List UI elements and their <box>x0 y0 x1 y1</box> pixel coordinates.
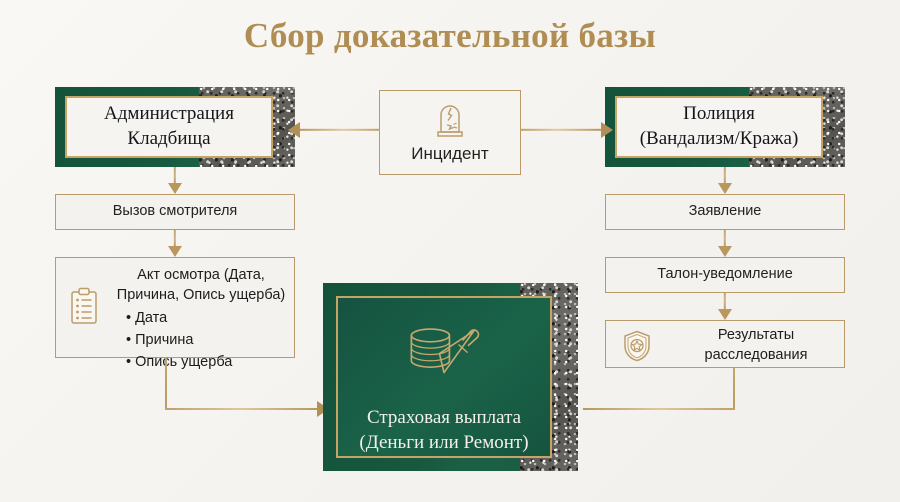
inspection-act-bullet-0: • Дата <box>126 308 294 330</box>
clipboard-icon <box>69 287 99 325</box>
node-incident-label: Инцидент <box>411 143 488 166</box>
node-inspection-act-heading-line2: Причина, Опись ущерба) <box>108 286 294 306</box>
arrow-head <box>168 246 182 257</box>
arrow-shaft <box>724 167 726 184</box>
node-statement-label: Заявление <box>689 202 762 222</box>
arrow-head <box>601 122 613 138</box>
arrow-head <box>718 309 732 320</box>
edge-inspection-act-to-insurance-payout <box>165 358 335 420</box>
node-inspection-act-heading-line1: Акт осмотра (Дата, <box>108 266 294 286</box>
node-notification-coupon[interactable]: Талон-уведомление <box>605 257 845 293</box>
node-administration-panel: Администрация Кладбища <box>65 96 273 158</box>
clipboard-icon-slot <box>64 282 104 330</box>
node-insurance-payout-panel: Страховая выплата (Деньги или Ремонт) <box>336 296 552 458</box>
node-administration[interactable]: Администрация Кладбища <box>55 87 295 167</box>
node-administration-label-line2: Кладбища <box>127 127 210 152</box>
arrow-shaft <box>174 230 176 247</box>
node-insurance-payout-line1: Страховая выплата <box>359 405 528 431</box>
node-notification-coupon-label: Талон-уведомление <box>657 265 793 285</box>
edge-statement-to-notification-coupon <box>715 230 735 257</box>
edge-administration-to-caretaker-call <box>165 167 185 194</box>
coins-and-trowel-icon <box>396 320 492 391</box>
node-investigation-results-line1: Результаты <box>668 326 844 346</box>
arrow-shaft-vertical <box>165 358 167 410</box>
node-police[interactable]: Полиция (Вандализм/Кража) <box>605 87 845 167</box>
arrow-shaft <box>174 167 176 184</box>
node-statement[interactable]: Заявление <box>605 194 845 230</box>
edge-notification-coupon-to-investigation-results <box>715 293 735 320</box>
edge-investigation-results-to-insurance-payout <box>565 368 735 420</box>
arrow-head <box>288 122 300 138</box>
node-caretaker-call[interactable]: Вызов смотрителя <box>55 194 295 230</box>
node-police-panel: Полиция (Вандализм/Кража) <box>615 96 823 158</box>
node-insurance-payout[interactable]: Страховая выплата (Деньги или Ремонт) <box>323 283 578 471</box>
diagram-canvas: Сбор доказательной базы Администрация Кл… <box>0 0 900 502</box>
arrow-shaft <box>300 129 380 131</box>
arrow-shaft <box>724 230 726 247</box>
edge-incident-to-administration <box>288 120 380 140</box>
cracked-tombstone-icon <box>433 101 467 139</box>
arrow-head <box>718 183 732 194</box>
node-administration-label-line1: Администрация <box>104 102 234 127</box>
inspection-act-bullet-1: • Причина <box>126 330 294 352</box>
police-badge-icon-slot <box>620 329 654 363</box>
page-title: Сбор доказательной базы <box>0 16 900 56</box>
arrow-shaft-horizontal <box>165 408 317 410</box>
arrow-shaft-horizontal <box>583 408 735 410</box>
node-investigation-results-line2: расследования <box>668 346 844 366</box>
node-investigation-results[interactable]: Результаты расследования <box>605 320 845 368</box>
node-incident[interactable]: Инцидент <box>379 90 521 175</box>
node-inspection-act[interactable]: Акт осмотра (Дата, Причина, Опись ущерба… <box>55 257 295 358</box>
edge-police-to-statement <box>715 167 735 194</box>
node-police-label-line2: (Вандализм/Кража) <box>640 127 799 152</box>
edge-incident-to-police <box>521 120 613 140</box>
arrow-shaft-vertical <box>733 368 735 410</box>
edge-caretaker-call-to-inspection-act <box>165 230 185 257</box>
arrow-head <box>718 246 732 257</box>
arrow-shaft <box>521 129 601 131</box>
node-caretaker-call-label: Вызов смотрителя <box>113 202 238 222</box>
police-badge-icon <box>622 330 652 362</box>
arrow-shaft <box>724 293 726 310</box>
node-insurance-payout-line2: (Деньги или Ремонт) <box>359 430 528 456</box>
node-police-label-line1: Полиция <box>683 102 755 127</box>
arrow-head <box>168 183 182 194</box>
